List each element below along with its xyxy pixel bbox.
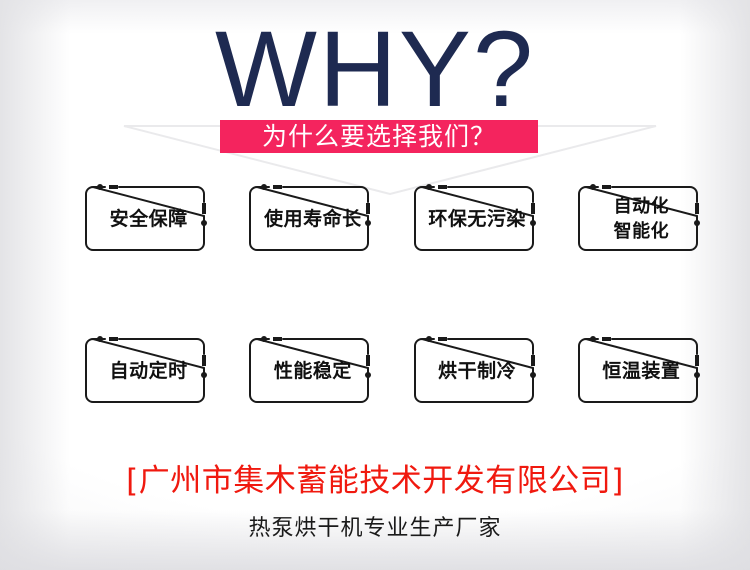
- page-title: WHY?: [0, 10, 750, 128]
- feature-row-2: 自动定时 性能稳定: [85, 338, 705, 403]
- feature-label-line: 自动化: [614, 194, 670, 219]
- feature-box-drying-cooling[interactable]: 烘干制冷: [414, 338, 541, 403]
- feature-grid: 安全保障 使用寿命长: [85, 186, 705, 403]
- promo-poster: WHY? 为什么要选择我们？ 安全保障: [0, 0, 750, 570]
- feature-label-line: 恒温装置: [602, 359, 680, 383]
- feature-box-automation[interactable]: 自动化 智能化: [578, 186, 705, 251]
- feature-label-line: 烘干制冷: [438, 359, 516, 383]
- company-tagline: 热泵烘干机专业生产厂家: [0, 515, 750, 543]
- feature-label: 烘干制冷: [438, 359, 516, 383]
- company-name: [广州市集木蓄能技术开发有限公司]: [0, 462, 750, 500]
- feature-row-1: 安全保障 使用寿命长: [85, 186, 705, 251]
- feature-label: 使用寿命长: [264, 207, 362, 231]
- subtitle-banner: 为什么要选择我们？: [220, 120, 538, 153]
- feature-label: 环保无污染: [428, 207, 526, 231]
- feature-label: 自动化 智能化: [614, 194, 670, 244]
- feature-box-long-lifespan[interactable]: 使用寿命长: [249, 186, 376, 251]
- feature-label-line: 自动定时: [110, 359, 188, 383]
- subtitle-banner-text: 为什么要选择我们？: [262, 124, 496, 149]
- feature-box-safety[interactable]: 安全保障: [85, 186, 212, 251]
- feature-label-line: 使用寿命长: [264, 207, 362, 231]
- feature-label-line: 性能稳定: [274, 359, 352, 383]
- feature-label: 安全保障: [110, 207, 188, 231]
- feature-box-constant-temperature[interactable]: 恒温装置: [578, 338, 705, 403]
- feature-label: 自动定时: [110, 359, 188, 383]
- feature-label: 恒温装置: [602, 359, 680, 383]
- feature-box-auto-timer[interactable]: 自动定时: [85, 338, 212, 403]
- feature-label: 性能稳定: [274, 359, 352, 383]
- feature-box-stable-performance[interactable]: 性能稳定: [249, 338, 376, 403]
- feature-box-eco-friendly[interactable]: 环保无污染: [414, 186, 541, 251]
- feature-label-line: 环保无污染: [428, 207, 526, 231]
- feature-label-line: 安全保障: [110, 207, 188, 231]
- feature-label-line: 智能化: [614, 219, 670, 244]
